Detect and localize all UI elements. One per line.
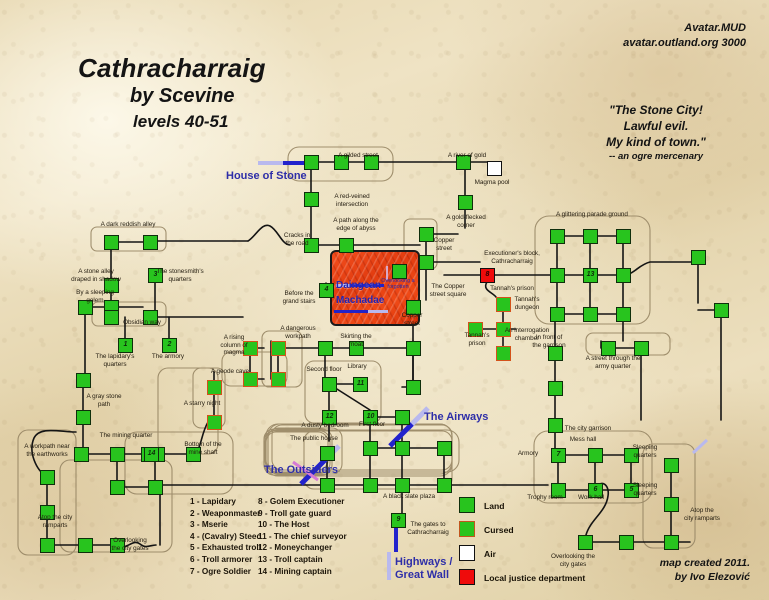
legend-label-cursed: Cursed <box>484 525 514 535</box>
legend-label-land: Land <box>484 501 505 511</box>
legend-color-key: LandCursedAirLocal justice department <box>0 0 769 600</box>
legend-swatch-land <box>459 497 475 513</box>
map-canvas: Daingean Machadae Overlooking a forgotte… <box>0 0 769 600</box>
legend-swatch-cursed <box>459 521 475 537</box>
legend-label-air: Air <box>484 549 496 559</box>
legend-label-justice: Local justice department <box>484 573 585 583</box>
legend-swatch-justice <box>459 569 475 585</box>
legend-swatch-air <box>459 545 475 561</box>
